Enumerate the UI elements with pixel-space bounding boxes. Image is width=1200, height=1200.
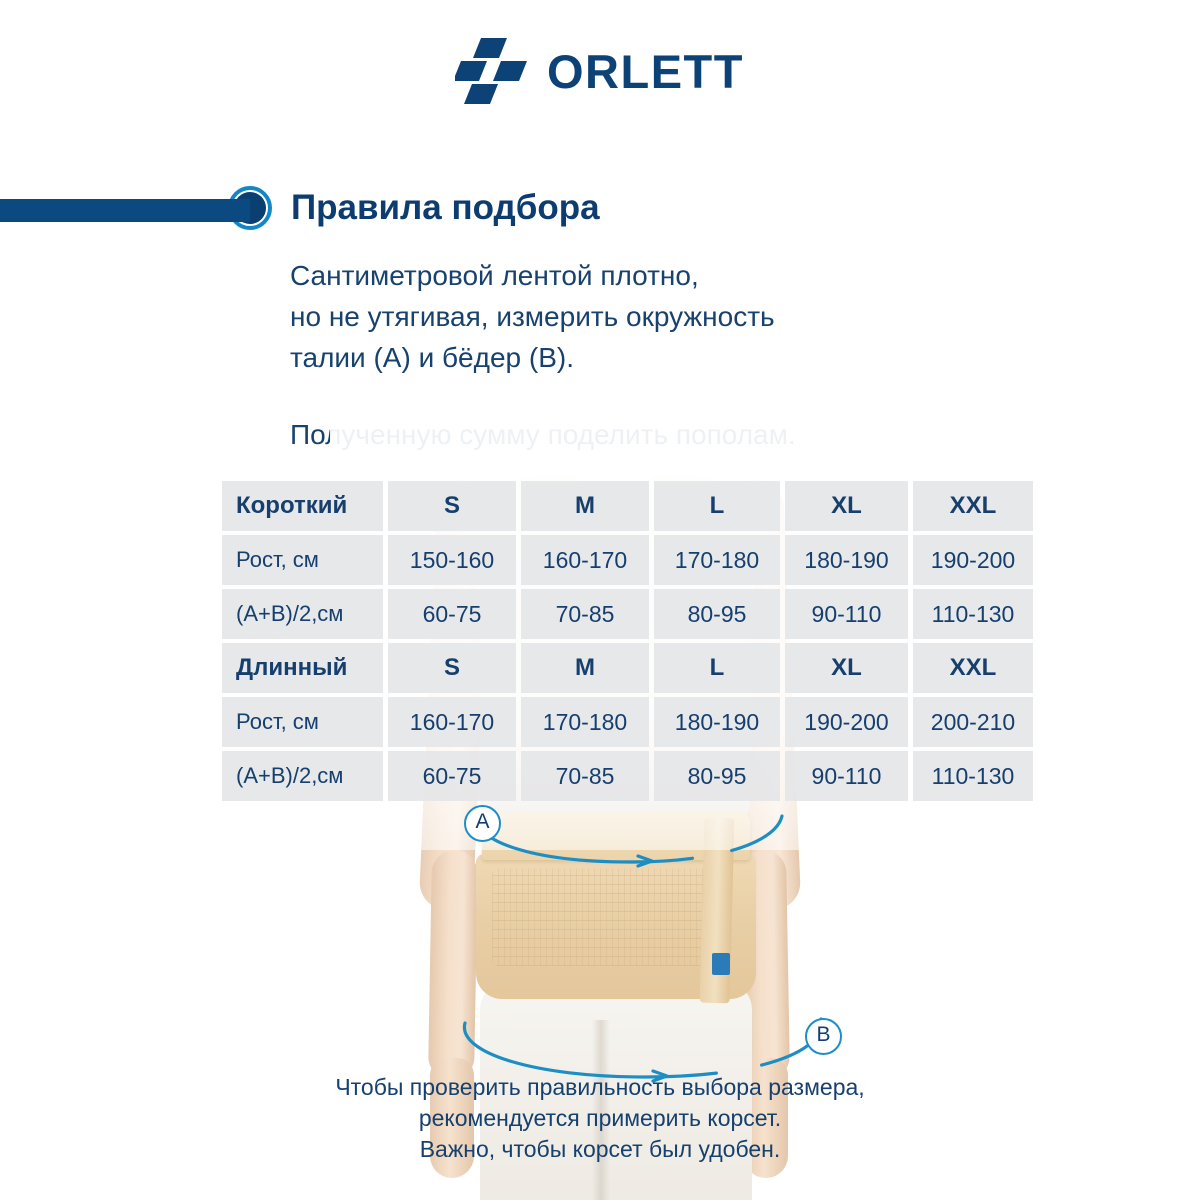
intro-paragraph-1: Сантиметровой лентой плотно, но не утяги…	[290, 255, 775, 378]
table-cell: 180-190	[785, 535, 908, 585]
heading-bar	[0, 199, 245, 222]
table-size-m: M	[521, 643, 649, 693]
product-brand-label	[712, 953, 730, 975]
table-cell: 80-95	[654, 589, 780, 639]
table-size-xxl: XXL	[913, 481, 1033, 531]
table-cell: 190-200	[913, 535, 1033, 585]
table-size-m: M	[521, 481, 649, 531]
table-size-xl: XL	[785, 643, 908, 693]
table-row-label: (A+B)/2,см	[222, 751, 383, 801]
table-row-label: Рост, см	[222, 535, 383, 585]
table-cell: 180-190	[654, 697, 780, 747]
table-cell: 90-110	[785, 751, 908, 801]
brand-logo: ORLETT	[455, 38, 744, 104]
table-cell: 190-200	[785, 697, 908, 747]
table-size-xxl: XXL	[913, 643, 1033, 693]
table-cell: 80-95	[654, 751, 780, 801]
table-cell: 200-210	[913, 697, 1033, 747]
table-cell: 170-180	[521, 697, 649, 747]
table-section-label-short: Короткий	[222, 481, 383, 531]
table-cell: 60-75	[388, 751, 516, 801]
table-section-label-long: Длинный	[222, 643, 383, 693]
table-cell: 110-130	[913, 589, 1033, 639]
brand-name: ORLETT	[547, 48, 744, 95]
table-row-label: Рост, см	[222, 697, 383, 747]
table-size-xl: XL	[785, 481, 908, 531]
size-table: Короткий S M L XL XXL Рост, см 150-160 1…	[222, 481, 1008, 801]
table-size-s: S	[388, 643, 516, 693]
heading-bar-cap	[222, 199, 250, 222]
orlett-cross-logo-icon	[455, 38, 529, 104]
table-cell: 160-170	[388, 697, 516, 747]
footer-note: Чтобы проверить правильность выбора разм…	[0, 1072, 1200, 1165]
table-cell: 110-130	[913, 751, 1033, 801]
table-size-l: L	[654, 643, 780, 693]
table-cell: 170-180	[654, 535, 780, 585]
marker-a: A	[464, 805, 501, 842]
waist-measure-arrow	[470, 800, 790, 880]
size-guide-page: ORLETT Правила подбора Сантиметровой лен…	[0, 0, 1200, 1200]
table-size-s: S	[388, 481, 516, 531]
page-title: Правила подбора	[291, 183, 600, 233]
table-row-label: (A+B)/2,см	[222, 589, 383, 639]
table-cell: 160-170	[521, 535, 649, 585]
table-cell: 150-160	[388, 535, 516, 585]
section-heading: Правила подбора	[0, 183, 1200, 239]
table-cell: 90-110	[785, 589, 908, 639]
table-cell: 70-85	[521, 751, 649, 801]
marker-b: B	[805, 1018, 842, 1055]
table-cell: 60-75	[388, 589, 516, 639]
table-cell: 70-85	[521, 589, 649, 639]
table-size-l: L	[654, 481, 780, 531]
product-corset-mesh	[492, 868, 732, 966]
